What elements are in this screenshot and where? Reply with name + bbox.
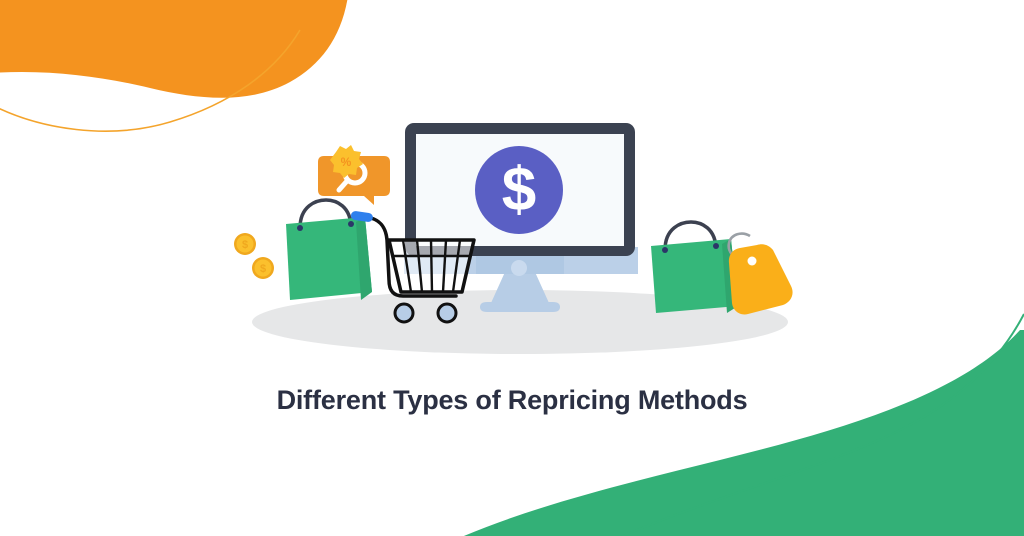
bag-stud-left-b [348,221,354,227]
dollar-symbol: $ [502,156,536,225]
coin-stack: $ $ [234,233,274,279]
cart-wheel-left [395,304,413,322]
shopping-illustration: $ % $ $ [0,0,1024,536]
price-tag-hole [748,257,757,266]
svg-text:$: $ [242,239,248,251]
bag-stud-left-a [297,225,303,231]
monitor-logo-dot [511,260,527,276]
svg-text:$: $ [260,263,266,275]
illustration-banner: $ % $ $ [0,0,1024,536]
price-tag-body [729,244,793,314]
monitor-stand-base [480,302,560,312]
monitor-stand-neck [491,272,549,303]
cart-wheel-right [438,304,456,322]
svg-text:%: % [341,155,352,169]
price-tag [729,234,793,315]
page-title: Different Types of Repricing Methods [0,385,1024,416]
bag-stud-right-a [662,247,668,253]
bag-stud-right-b [713,243,719,249]
price-search-bubble: % [318,145,390,205]
shopping-bag-right [651,222,738,313]
coin-1: $ [234,233,256,255]
coin-2: $ [252,257,274,279]
